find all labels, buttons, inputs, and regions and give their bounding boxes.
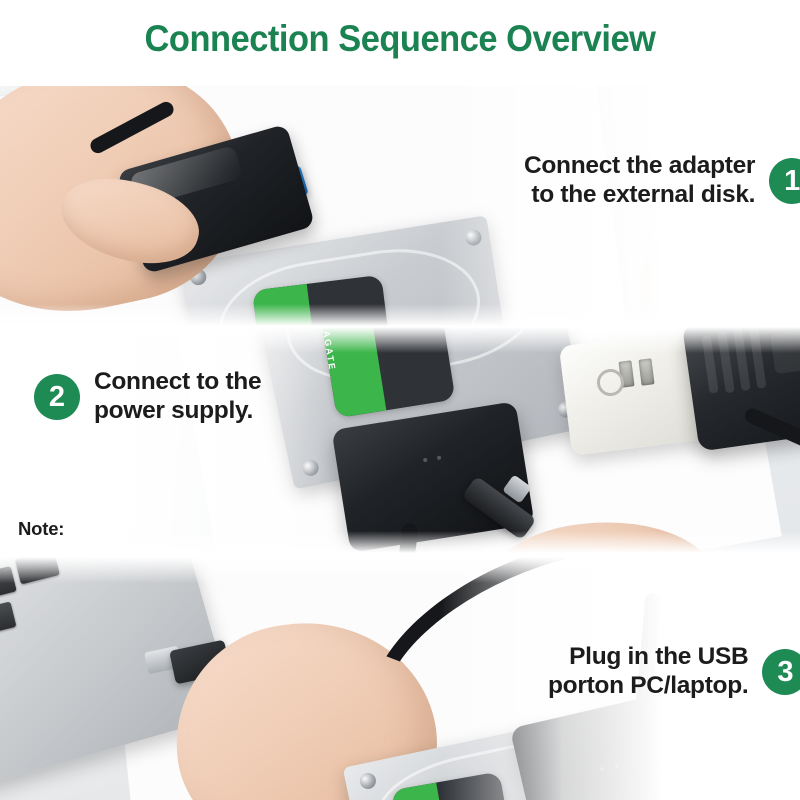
page-title: Connection Sequence Overview <box>28 18 772 60</box>
step-1-line-1: Connect the adapter <box>524 152 755 179</box>
step-2-line-2: power supply. <box>94 397 261 426</box>
step-1-text: Connect the adapter to the external disk… <box>524 152 755 210</box>
led-indicator <box>423 458 428 463</box>
photo-fade-bottom <box>0 304 800 326</box>
step-3-text: Plug in the USB porton PC/laptop. <box>548 643 748 701</box>
step-3-line-2: porton PC/laptop. <box>548 672 748 701</box>
led-indicator <box>437 456 442 461</box>
keyboard-key <box>0 601 17 634</box>
step-1-line-2: to the external disk. <box>524 181 755 210</box>
step-3-line-1: Plug in the USB <box>569 643 748 670</box>
note-line-1: Note: <box>18 517 306 541</box>
step-2-badge: 2 <box>34 374 80 420</box>
photo-fade-top <box>0 327 800 353</box>
photo-fade-top <box>0 557 800 583</box>
step-3-badge: 3 <box>762 649 800 695</box>
step-2-caption: 2 Connect to the power supply. <box>34 368 261 426</box>
step-1-badge: 1 <box>769 158 800 204</box>
infographic-page: Connection Sequence Overview SEAGATE BAR… <box>0 0 800 800</box>
step-2-text: Connect to the power supply. <box>94 368 261 426</box>
step-1-caption: Connect the adapter to the external disk… <box>524 152 800 210</box>
step-3-caption: Plug in the USB porton PC/laptop. 3 <box>548 643 800 701</box>
drive-screw <box>358 771 377 790</box>
step-2-line-1: Connect to the <box>94 368 261 395</box>
